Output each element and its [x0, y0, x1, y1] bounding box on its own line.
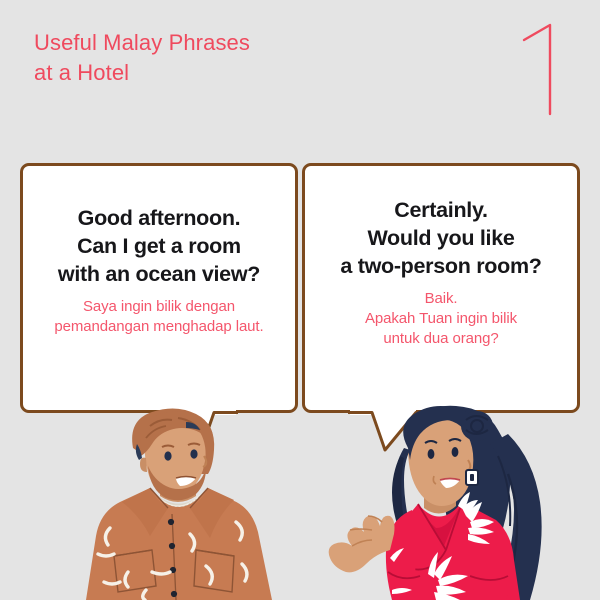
speech-bubble-woman: Certainly. Would you like a two-person r… [302, 163, 580, 413]
character-woman [329, 406, 542, 600]
page-title: Useful Malay Phrases at a Hotel [34, 28, 334, 88]
woman-raised-hand [329, 516, 395, 573]
characters-illustration [0, 404, 600, 600]
english-phrase-woman: Certainly. Would you like a two-person r… [317, 196, 565, 280]
character-man [86, 408, 272, 600]
phrase-card: Useful Malay Phrases at a Hotel Good aft… [0, 0, 600, 600]
man-eye-left [164, 451, 171, 460]
bubble-text-group-man: Good afternoon. Can I get a room with an… [23, 204, 295, 337]
step-number-one-icon [512, 18, 572, 118]
woman-eye-left [428, 449, 435, 459]
malay-phrase-woman: Baik. Apakah Tuan ingin bilik untuk dua … [317, 289, 565, 349]
english-phrase-man: Good afternoon. Can I get a room with an… [35, 204, 283, 288]
bubble-text-group-woman: Certainly. Would you like a two-person r… [305, 196, 577, 349]
speech-bubble-man: Good afternoon. Can I get a room with an… [20, 163, 298, 413]
woman-eye-right [452, 447, 459, 457]
man-eye-right [190, 449, 197, 458]
malay-phrase-man: Saya ingin bilik dengan pemandangan meng… [35, 297, 283, 337]
step-number [512, 18, 572, 118]
